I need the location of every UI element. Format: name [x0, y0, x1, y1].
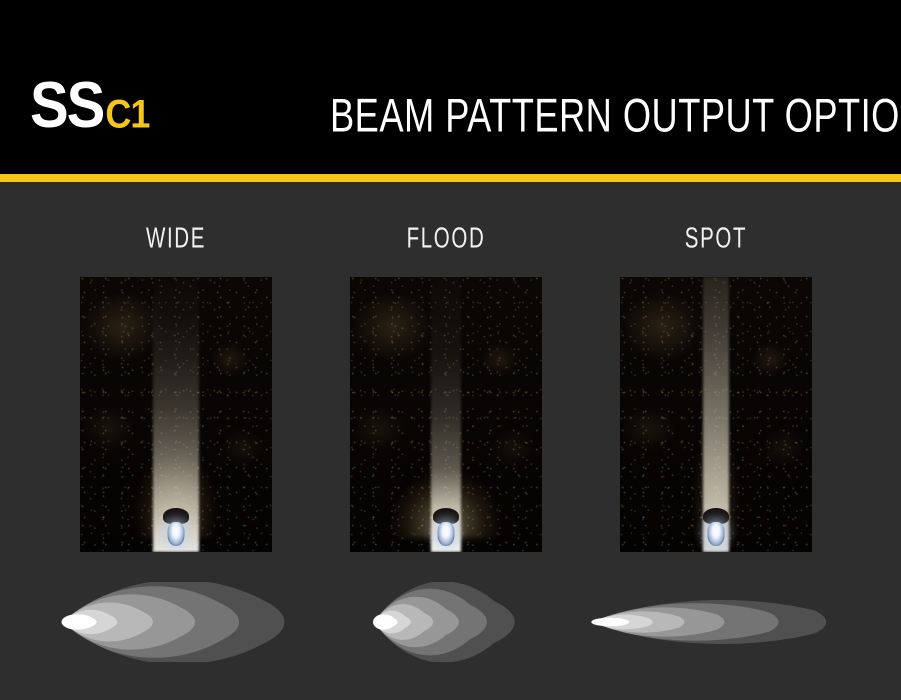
beam-option-label-spot: SPOT — [605, 222, 826, 255]
beam-pattern-infographic: SSC1 BEAM PATTERN OUTPUT OPTIONS WIDE — [0, 0, 901, 700]
beam-photo-spot — [620, 277, 812, 552]
beam-diagram-spot — [581, 582, 851, 662]
beam-option-wide: WIDE — [41, 182, 311, 700]
beam-diagram-flood — [311, 582, 581, 662]
beam-options-row: WIDE FLOOD — [0, 182, 901, 700]
brand-logo-suffix: C1 — [105, 94, 149, 134]
beam-core-flood — [373, 614, 393, 629]
beam-core-wide — [62, 614, 92, 629]
beam-diagram-svg-spot — [581, 582, 851, 662]
beam-option-label-flood: FLOOD — [335, 222, 556, 255]
photo-light-source — [438, 522, 455, 546]
accent-divider — [0, 174, 901, 182]
beam-photo-flood — [350, 277, 542, 552]
beam-option-flood: FLOOD — [311, 182, 581, 700]
page-title: BEAM PATTERN OUTPUT OPTIONS — [330, 90, 842, 151]
header-bar: SSC1 BEAM PATTERN OUTPUT OPTIONS — [0, 0, 901, 174]
beam-option-label-wide: WIDE — [65, 222, 286, 255]
beam-photo-wide — [80, 277, 272, 552]
beam-diagram-wide — [41, 582, 311, 662]
beam-option-spot: SPOT — [581, 182, 851, 700]
photo-light-source — [168, 522, 185, 546]
brand-logo-primary: SS — [30, 73, 103, 138]
brand-logo: SSC1 — [30, 80, 149, 138]
beam-diagram-svg-wide — [41, 582, 311, 662]
beam-core-spot — [591, 618, 625, 627]
beam-diagram-svg-flood — [311, 582, 581, 662]
photo-light-source — [708, 522, 725, 546]
